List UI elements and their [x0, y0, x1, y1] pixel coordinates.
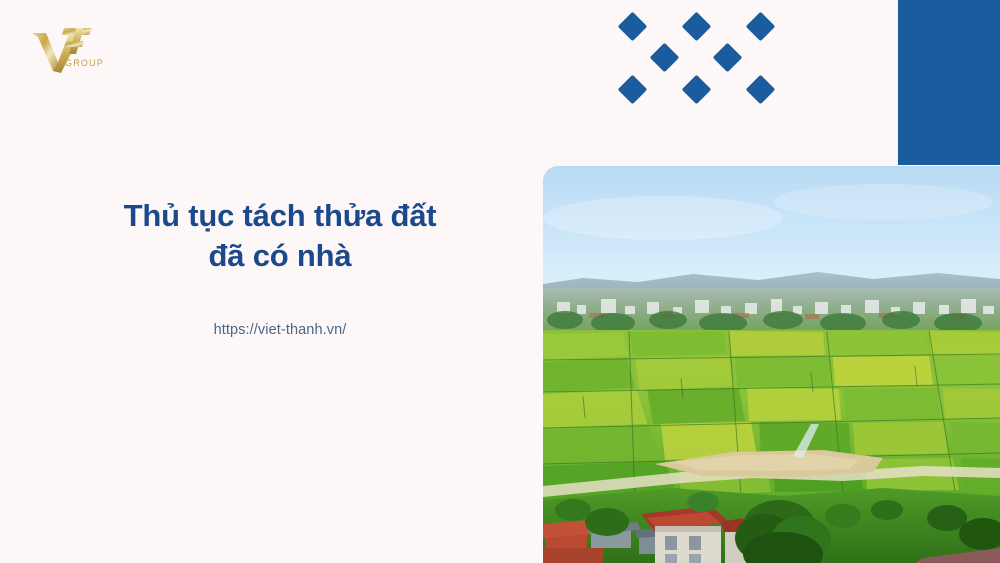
- diamond-grid: [600, 0, 780, 100]
- logo-wordmark: GROUP: [65, 58, 104, 68]
- page-title-line-2: đã có nhà: [209, 238, 352, 273]
- diamond-shape: [618, 12, 648, 42]
- text-column: Thủ tục tách thửa đất đã có nhà https://…: [36, 196, 524, 338]
- diamond-shape: [650, 43, 680, 73]
- blue-corner-block: [898, 0, 1000, 165]
- diamond-shape: [618, 75, 648, 105]
- diamond-shape: [746, 12, 776, 42]
- rice-field-aerial-photo: [543, 166, 1000, 563]
- page-title: Thủ tục tách thửa đất đã có nhà: [36, 196, 524, 275]
- page-title-line-1: Thủ tục tách thửa đất: [124, 198, 437, 233]
- diamond-shape: [713, 43, 743, 73]
- vt-group-logo[interactable]: GROUP: [26, 22, 114, 78]
- diamond-shape: [682, 75, 712, 105]
- diamond-shape: [682, 12, 712, 42]
- website-url[interactable]: https://viet-thanh.vn/: [36, 275, 524, 338]
- diamond-shape: [746, 75, 776, 105]
- slide-canvas: GROUP Thủ tục tách thửa đất đã có nhà ht…: [0, 0, 1000, 563]
